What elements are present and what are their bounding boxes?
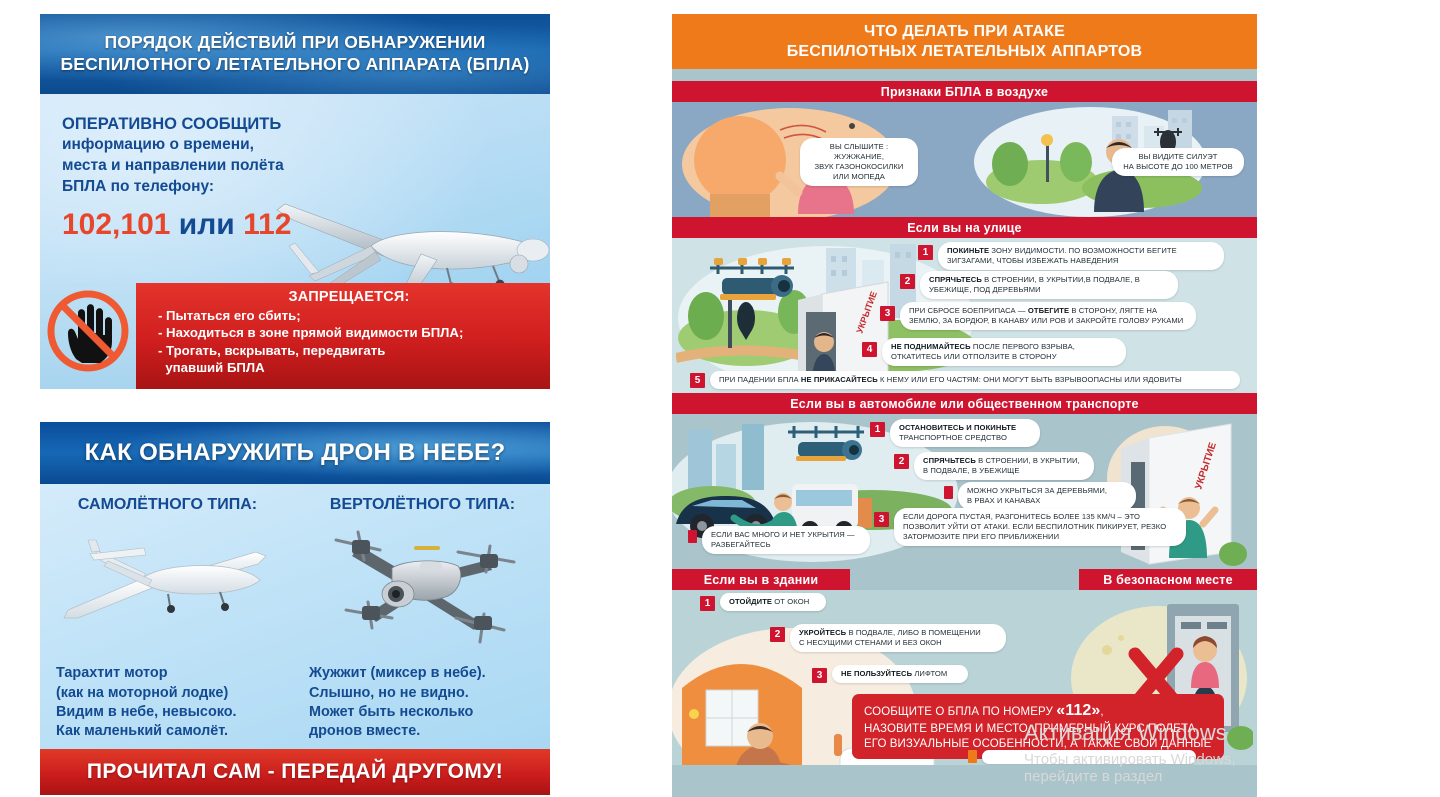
vehicle-step-2-bold: СПРЯЧЬТЕСЬ: [923, 456, 976, 465]
vehicle-step-bullet-icon: [944, 486, 953, 499]
section-band-building-label: Если вы в здании: [704, 573, 819, 587]
poster-b-footer-text: ПРОЧИТАЛ САМ - ПЕРЕДАЙ ДРУГОМУ!: [87, 760, 503, 784]
prohibition-item: - Трогать, вскрывать, передвигать: [158, 342, 540, 359]
poster-a-lead-line2: информацию о времени,: [62, 135, 337, 156]
section-air-signs: ВЫ СЛЫШИТЕ : ЖУЖЖАНИЕ, ЗВУК ГАЗОНОКОСИЛК…: [672, 102, 1257, 217]
poster-a-title: ПОРЯДОК ДЕЙСТВИЙ ПРИ ОБНАРУЖЕНИИ БЕСПИЛО…: [60, 32, 529, 76]
prohibition-icon-area: [40, 283, 136, 389]
poster-uav-detection-procedure: ПОРЯДОК ДЕЙСТВИЙ ПРИ ОБНАРУЖЕНИИ БЕСПИЛО…: [40, 14, 550, 389]
outdoor-step-bubble-5: ПРИ ПАДЕНИИ БПЛА НЕ ПРИКАСАЙТЕСЬ К НЕМУ …: [710, 371, 1240, 389]
poster-a-instruction-block: ОПЕРАТИВНО СООБЩИТЬ информацию о времени…: [62, 114, 337, 240]
vehicle-step-bubble-trees: МОЖНО УКРЫТЬСЯ ЗА ДЕРЕВЬЯМИ, В РВАХ И КА…: [958, 482, 1136, 510]
windows-activation-watermark-subtitle: Чтобы активировать Windows, перейдите в …: [1024, 751, 1257, 785]
windows-activation-watermark-title: Активация Windows: [1024, 720, 1227, 746]
quadcopter-description: Жужжит (миксер в небе). Слышно, но не ви…: [309, 664, 544, 741]
building-step-bubble-3: НЕ ПОЛЬЗУЙТЕСЬ ЛИФТОМ: [832, 665, 968, 683]
vehicle-step-1-bold: ОСТАНОВИТЕСЬ И ПОКИНЬТЕ: [899, 423, 1016, 432]
cta-line-1: СООБЩИТЕ О БПЛА ПО НОМЕРУ «112»,: [864, 701, 1212, 722]
section-band-air-signs-label: Признаки БПЛА в воздухе: [881, 85, 1048, 99]
fixed-wing-drone-icon: [48, 518, 288, 648]
outdoor-step-number-3: 3: [880, 306, 895, 321]
vehicle-step-bullet-icon-2: [688, 530, 697, 543]
outdoor-step-5-pre: ПРИ ПАДЕНИИ БПЛА: [719, 375, 801, 384]
air-sign-bubble-sound: ВЫ СЛЫШИТЕ : ЖУЖЖАНИЕ, ЗВУК ГАЗОНОКОСИЛК…: [800, 138, 918, 186]
poster-c-title: ЧТО ДЕЛАТЬ ПРИ АТАКЕ БЕСПИЛОТНЫХ ЛЕТАТЕЛ…: [787, 22, 1143, 62]
drone-type-quadcopter: ВЕРТОЛЁТНОГО ТИПА:: [295, 484, 550, 749]
section-band-air-signs: Признаки БПЛА в воздухе: [672, 81, 1257, 102]
section-band-safe-place-label: В безопасном месте: [1103, 573, 1233, 587]
poster-c-header: ЧТО ДЕЛАТЬ ПРИ АТАКЕ БЕСПИЛОТНЫХ ЛЕТАТЕЛ…: [672, 14, 1257, 69]
building-step-1-rest: ОТ ОКОН: [772, 597, 809, 606]
section-band-vehicle: Если вы в автомобиле или общественном тр…: [672, 393, 1257, 414]
outdoor-step-number-1: 1: [918, 245, 933, 260]
section-outdoors: УКРЫТИЕ 1 ПОКИНЬТЕ ЗОНУ ВИДИМОСТИ. ПО ВО…: [672, 238, 1257, 393]
poster-a-lead-line4: БПЛА по телефону:: [62, 177, 337, 198]
section-vehicle: УКРЫТИЕ 1 ОСТАНОВИТЕСЬ И ПОКИНЬТЕ ТРАНСП…: [672, 414, 1257, 569]
poster-b-title: КАК ОБНАРУЖИТЬ ДРОН В НЕБЕ?: [85, 439, 506, 467]
outdoor-step-bubble-1: ПОКИНЬТЕ ЗОНУ ВИДИМОСТИ. ПО ВОЗМОЖНОСТИ …: [938, 242, 1224, 270]
section-band-outdoors-label: Если вы на улице: [907, 221, 1021, 235]
section-band-row-building: Если вы в здании В безопасном месте: [672, 569, 1257, 590]
vehicle-step-number-1: 1: [870, 422, 885, 437]
building-step-3-bold: НЕ ПОЛЬЗУЙТЕСЬ: [841, 669, 912, 678]
vehicle-step-number-2: 2: [894, 454, 909, 469]
vehicle-step-bubble-scatter: ЕСЛИ ВАС МНОГО И НЕТ УКРЫТИЯ — РАЗБЕГАЙТ…: [702, 526, 870, 554]
outdoor-step-number-5: 5: [690, 373, 705, 388]
poster-drone-identification: КАК ОБНАРУЖИТЬ ДРОН В НЕБЕ? САМОЛЁТНОГО …: [40, 422, 550, 795]
poster-a-prohibitions-strip: ЗАПРЕЩАЕТСЯ: - Пытаться его сбить; - Нах…: [40, 283, 550, 389]
outdoor-step-5-rest: К НЕМУ ИЛИ ЕГО ЧАСТЯМ: ОНИ МОГУТ БЫТЬ ВЗ…: [878, 375, 1182, 384]
building-step-number-1: 1: [700, 596, 715, 611]
outdoor-step-3-bold: ОТБЕГИТЕ: [1028, 306, 1069, 315]
vehicle-step-bubble-1: ОСТАНОВИТЕСЬ И ПОКИНЬТЕ ТРАНСПОРТНОЕ СРЕ…: [890, 419, 1040, 447]
poster-a-title-line1: ПОРЯДОК ДЕЙСТВИЙ ПРИ ОБНАРУЖЕНИИ: [104, 32, 485, 52]
outdoor-step-4-bold: НЕ ПОДНИМАЙТЕСЬ: [891, 342, 971, 351]
poster-a-body: ОПЕРАТИВНО СООБЩИТЬ информацию о времени…: [40, 94, 550, 389]
vehicle-step-bubble-2: СПРЯЧЬТЕСЬ В СТРОЕНИИ, В УКРЫТИИ, В ПОДВ…: [914, 452, 1094, 480]
vehicle-step-bubble-3: ЕСЛИ ДОРОГА ПУСТАЯ, РАЗГОНИТЕСЬ БОЛЕЕ 13…: [894, 508, 1186, 546]
building-step-3-rest: ЛИФТОМ: [912, 669, 947, 678]
building-step-bubble-2: УКРОЙТЕСЬ В ПОДВАЛЕ, ЛИБО В ПОМЕЩЕНИИ С …: [790, 624, 1006, 652]
outdoor-step-bubble-4: НЕ ПОДНИМАЙТЕСЬ ПОСЛЕ ПЕРВОГО ВЗРЫВА, ОТ…: [882, 338, 1126, 366]
cta-bullet-icon: [968, 750, 977, 763]
no-hand-prohibition-icon: [46, 289, 130, 373]
fixed-wing-description: Тарахтит мотор (как на моторной лодке) В…: [56, 664, 289, 741]
section-band-vehicle-label: Если вы в автомобиле или общественном тр…: [790, 397, 1138, 411]
poster-c-title-line2: БЕСПИЛОТНЫХ ЛЕТАТЕЛЬНЫХ АППАРТОВ: [787, 43, 1143, 60]
section-band-outdoors: Если вы на улице: [672, 217, 1257, 238]
poster-b-body: САМОЛЁТНОГО ТИПА:: [40, 484, 550, 749]
drone-type-fixed-wing: САМОЛЁТНОГО ТИПА:: [40, 484, 295, 749]
quadcopter-heading: ВЕРТОЛЁТНОГО ТИПА:: [295, 496, 550, 514]
outdoor-step-1-bold: ПОКИНЬТЕ: [947, 246, 989, 255]
phone-primary: 102,101: [62, 208, 170, 241]
cta-line1-pre: СООБЩИТЕ О БПЛА ПО НОМЕРУ: [864, 706, 1056, 718]
prohibition-item: - Находиться в зоне прямой видимости БПЛ…: [158, 324, 540, 341]
prohibition-text-area: ЗАПРЕЩАЕТСЯ: - Пытаться его сбить; - Нах…: [136, 283, 550, 389]
poster-a-title-line2: БЕСПИЛОТНОГО ЛЕТАТЕЛЬНОГО АППАРАТА (БПЛА…: [60, 54, 529, 74]
section-band-building[interactable]: Если вы в здании: [672, 569, 850, 590]
poster-b-header: КАК ОБНАРУЖИТЬ ДРОН В НЕБЕ?: [40, 422, 550, 484]
cta-phone-number: «112»: [1056, 702, 1100, 719]
cta-line1-post: ,: [1100, 706, 1103, 718]
outdoor-step-number-2: 2: [900, 274, 915, 289]
poster-c-title-line1: ЧТО ДЕЛАТЬ ПРИ АТАКЕ: [864, 23, 1065, 40]
left-poster-column: ПОРЯДОК ДЕЙСТВИЙ ПРИ ОБНАРУЖЕНИИ БЕСПИЛО…: [40, 14, 550, 795]
vehicle-step-1-rest: ТРАНСПОРТНОЕ СРЕДСТВО: [899, 433, 1007, 442]
prohibition-title: ЗАПРЕЩАЕТСЯ:: [158, 289, 540, 305]
phone-secondary: 112: [243, 208, 291, 241]
poster-a-lead-bold: ОПЕРАТИВНО СООБЩИТЬ: [62, 114, 337, 135]
poster-a-lead-line3: места и направлении полёта: [62, 156, 337, 177]
emergency-phone-numbers: 102,101 или 112: [62, 210, 337, 240]
screenshot-canvas: ПОРЯДОК ДЕЙСТВИЙ ПРИ ОБНАРУЖЕНИИ БЕСПИЛО…: [0, 0, 1440, 797]
fixed-wing-heading: САМОЛЁТНОГО ТИПА:: [40, 496, 295, 514]
phone-conjunction: или: [179, 208, 235, 241]
outdoor-step-number-4: 4: [862, 342, 877, 357]
building-step-1-bold: ОТОЙДИТЕ: [729, 597, 772, 606]
outdoor-step-2-bold: СПРЯЧЬТЕСЬ: [929, 275, 982, 284]
section-band-safe-place[interactable]: В безопасном месте: [1079, 569, 1257, 590]
building-step-number-2: 2: [770, 627, 785, 642]
outdoor-step-bubble-2: СПРЯЧЬТЕСЬ В СТРОЕНИИ, В УКРЫТИИ,В ПОДВА…: [920, 271, 1178, 299]
prohibition-list: - Пытаться его сбить; - Находиться в зон…: [158, 307, 540, 377]
prohibition-item: упавший БПЛА: [158, 359, 540, 376]
building-step-bubble-1: ОТОЙДИТЕ ОТ ОКОН: [720, 593, 826, 611]
outdoor-step-5-bold: НЕ ПРИКАСАЙТЕСЬ: [801, 375, 878, 384]
building-step-number-3: 3: [812, 668, 827, 683]
outdoor-step-3-pre: ПРИ СБРОСЕ БОЕПРИПАСА —: [909, 306, 1028, 315]
vehicle-step-number-3: 3: [874, 512, 889, 527]
poster-uav-attack-actions: ЧТО ДЕЛАТЬ ПРИ АТАКЕ БЕСПИЛОТНЫХ ЛЕТАТЕЛ…: [672, 14, 1257, 797]
poster-a-header: ПОРЯДОК ДЕЙСТВИЙ ПРИ ОБНАРУЖЕНИИ БЕСПИЛО…: [40, 14, 550, 94]
poster-b-footer: ПРОЧИТАЛ САМ - ПЕРЕДАЙ ДРУГОМУ!: [40, 749, 550, 795]
outdoor-step-bubble-3: ПРИ СБРОСЕ БОЕПРИПАСА — ОТБЕГИТЕ В СТОРО…: [900, 302, 1196, 330]
air-sign-bubble-sight: ВЫ ВИДИТЕ СИЛУЭТ НА ВЫСОТЕ ДО 100 МЕТРОВ: [1112, 148, 1244, 176]
building-step-2-bold: УКРОЙТЕСЬ: [799, 628, 846, 637]
quadcopter-drone-icon: [308, 518, 538, 648]
prohibition-item: - Пытаться его сбить;: [158, 307, 540, 324]
